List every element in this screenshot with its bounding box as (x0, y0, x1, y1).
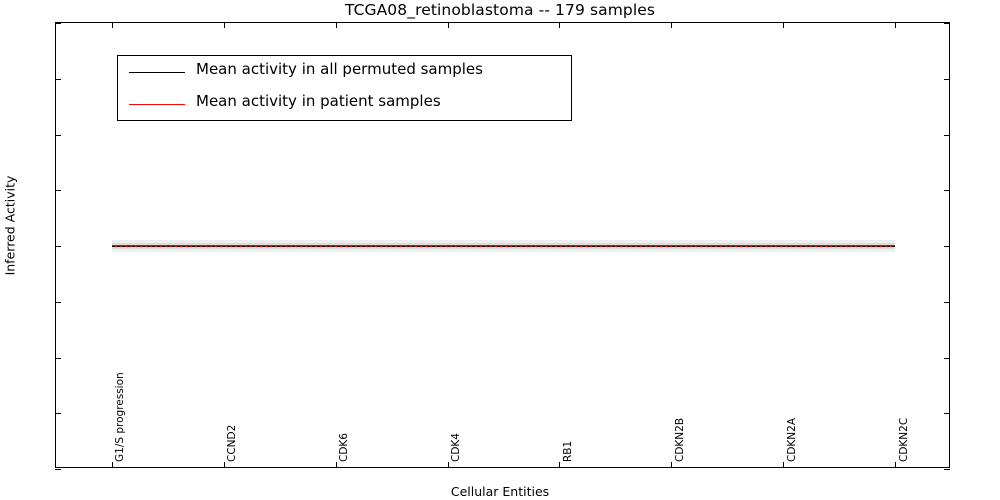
y-tick-mark-right (944, 302, 950, 303)
x-tick-label: CDK4 (451, 433, 462, 462)
x-tick-label: CCND2 (227, 425, 238, 462)
x-tick-label: CDKN2A (787, 418, 798, 462)
x-tick-mark-top (895, 22, 896, 28)
plot-area: Mean activity in all permuted samples Me… (55, 22, 950, 468)
x-tick-mark (336, 462, 337, 468)
legend-entry-patient: Mean activity in patient samples (118, 88, 571, 121)
x-tick-label: CDKN2C (899, 418, 910, 462)
chart-figure: TCGA08_retinoblastoma -- 179 samples Mea… (0, 0, 1000, 500)
y-tick-mark (55, 302, 61, 303)
x-tick-mark (224, 462, 225, 468)
legend-label-patient: Mean activity in patient samples (196, 92, 441, 110)
x-tick-mark-top (112, 22, 113, 28)
y-axis-label: Inferred Activity (3, 3, 18, 449)
legend-swatch-permuted (129, 72, 185, 73)
chart-title: TCGA08_retinoblastoma -- 179 samples (0, 1, 1000, 19)
legend-entry-permuted: Mean activity in all permuted samples (118, 56, 571, 89)
x-tick-label: RB1 (563, 441, 574, 462)
legend-swatch-patient (129, 104, 185, 105)
y-tick-mark (55, 135, 61, 136)
y-tick-mark (55, 246, 61, 247)
y-tick-mark (55, 413, 61, 414)
x-tick-mark-top (224, 22, 225, 28)
y-tick-mark-right (944, 190, 950, 191)
y-tick-mark-right (944, 135, 950, 136)
x-tick-mark (783, 462, 784, 468)
x-tick-mark-top (336, 22, 337, 28)
x-tick-label: G1/S progression (115, 372, 126, 462)
x-tick-mark-top (783, 22, 784, 28)
y-tick-mark (55, 469, 61, 470)
x-tick-mark-top (559, 22, 560, 28)
y-tick-mark (55, 190, 61, 191)
y-tick-mark-right (944, 413, 950, 414)
x-tick-mark (559, 462, 560, 468)
y-tick-mark-right (944, 246, 950, 247)
x-tick-mark-top (448, 22, 449, 28)
y-tick-mark-right (944, 358, 950, 359)
x-tick-mark (448, 462, 449, 468)
y-tick-mark-right (944, 79, 950, 80)
x-tick-label: CDKN2B (675, 418, 686, 462)
x-tick-mark (112, 462, 113, 468)
y-tick-mark (55, 358, 61, 359)
y-tick-mark-right (944, 469, 950, 470)
x-tick-mark (671, 462, 672, 468)
chart-legend: Mean activity in all permuted samples Me… (117, 55, 572, 121)
x-tick-label: CDK6 (339, 433, 350, 462)
y-tick-mark (55, 79, 61, 80)
legend-label-permuted: Mean activity in all permuted samples (196, 60, 483, 78)
y-tick-mark-right (944, 23, 950, 24)
y-tick-mark (55, 23, 61, 24)
x-tick-mark (895, 462, 896, 468)
series-line-permuted (112, 246, 895, 247)
x-axis-label: Cellular Entities (0, 484, 1000, 499)
x-tick-mark-top (671, 22, 672, 28)
